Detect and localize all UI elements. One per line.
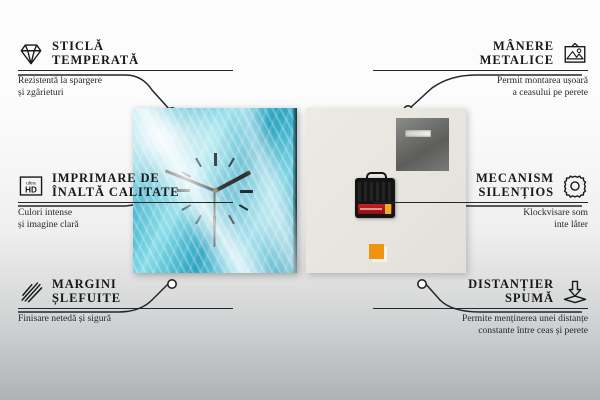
metal-hanger-plate [396, 118, 449, 171]
feature-title-line1: MECANISM [476, 172, 554, 186]
diamond-icon [18, 41, 44, 67]
feature-subtitle-line2: inte låter [373, 219, 588, 231]
feature-title-line1: IMPRIMARE DE [52, 172, 180, 186]
feature-subtitle-line1: Klockvisare som [373, 207, 588, 219]
foam-spacer [369, 244, 384, 259]
feature-subtitle-line1: Permit montarea ușoară [373, 75, 588, 87]
feature-subtitle-line1: Finisare netedă și sigură [18, 313, 233, 325]
feature-title-line2: TEMPERATĂ [52, 54, 139, 68]
diagonal-stripes-icon [18, 279, 44, 305]
arrow-down-pad-icon [562, 279, 588, 305]
feature-subtitle-line1: Permite menținerea unei distanțe [373, 313, 588, 325]
feature-title-line2: ÎNALTĂ CALITATE [52, 186, 180, 200]
feature-subtitle-line2: a ceasului pe perete [373, 87, 588, 99]
feature-high-quality-print: ultra HD IMPRIMARE DE ÎNALTĂ CALITATE Cu… [18, 172, 233, 231]
feature-title-line2: METALICE [480, 54, 554, 68]
feature-title-line1: STICLĂ [52, 40, 139, 54]
infographic-stage: STICLĂ TEMPERATĂ Rezistentă la spargere … [0, 0, 600, 400]
feature-rule [373, 70, 588, 71]
feature-subtitle-line2: și zgârieturi [18, 87, 233, 99]
feature-title-line2: SILENȚIOS [479, 186, 555, 200]
picture-frame-icon [562, 41, 588, 67]
feature-polished-edges: MARGINI ȘLEFUITE Finisare netedă și sigu… [18, 278, 233, 325]
feature-title-line2: ȘLEFUITE [52, 292, 121, 306]
feature-rule [373, 308, 588, 309]
hanger-slot [405, 130, 431, 137]
feature-subtitle-line1: Rezistentă la spargere [18, 75, 233, 87]
feature-rule [18, 308, 233, 309]
ultra-hd-big-label: HD [25, 185, 37, 194]
glass-edge [293, 108, 297, 273]
feature-subtitle-line2: și imagine clară [18, 219, 233, 231]
feature-title-line1: DISTANȚIER [468, 278, 554, 292]
feature-title-line1: MARGINI [52, 278, 121, 292]
feature-rule [18, 70, 233, 71]
feature-rule [18, 202, 233, 203]
ultra-hd-icon: ultra HD [18, 173, 44, 199]
feature-title-line1: MÂNERE [493, 40, 554, 54]
feature-foam-spacer: DISTANȚIER SPUMĂ Permite menținerea unei… [373, 278, 588, 337]
feature-subtitle-line1: Culori intense [18, 207, 233, 219]
feature-title-line2: SPUMĂ [505, 292, 554, 306]
feature-subtitle-line2: constante între ceas și perete [373, 325, 588, 337]
feature-silent-mechanism: MECANISM SILENȚIOS Klockvisare som inte … [373, 172, 588, 231]
feature-metal-hangers: MÂNERE METALICE Permit montarea ușoară a… [373, 40, 588, 99]
feature-tempered-glass: STICLĂ TEMPERATĂ Rezistentă la spargere … [18, 40, 233, 99]
feature-rule [373, 202, 588, 203]
gear-icon [562, 173, 588, 199]
